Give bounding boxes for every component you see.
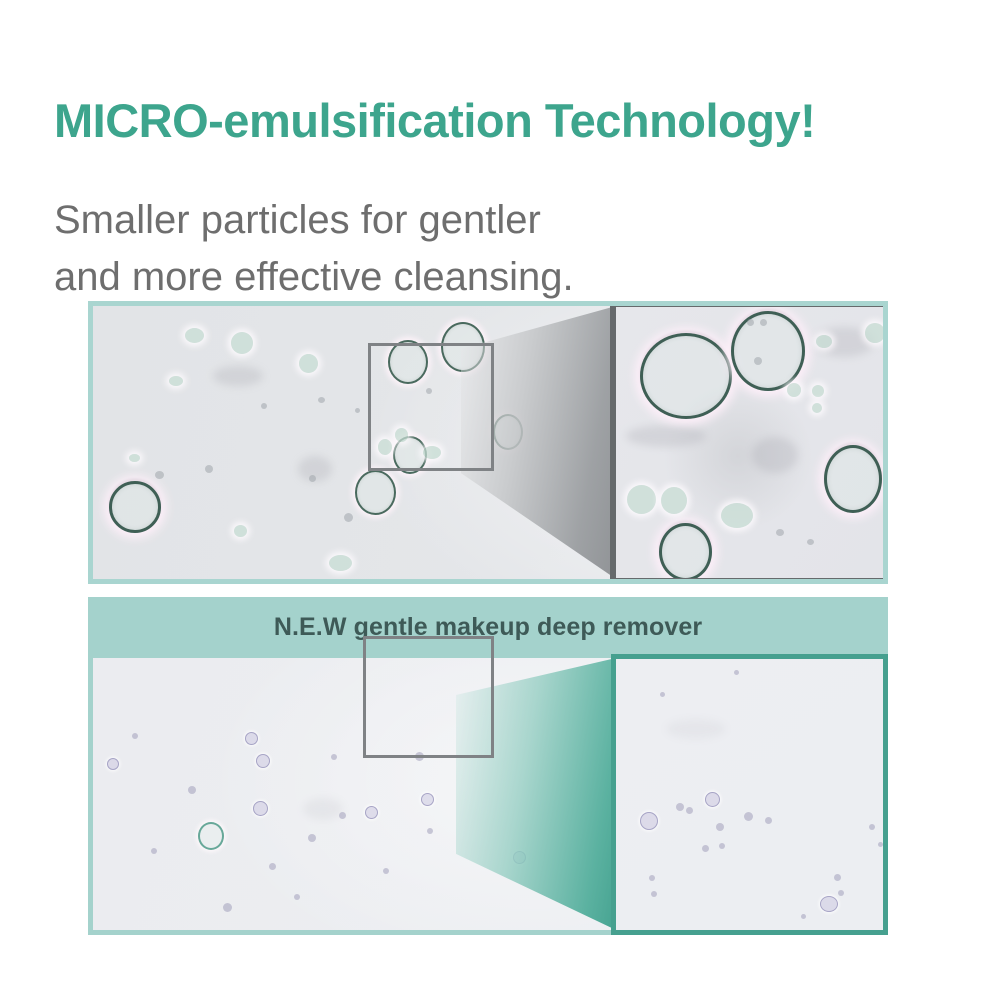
page-title: MICRO-emulsification Technology! xyxy=(54,93,815,148)
oil-droplet xyxy=(661,487,687,514)
oil-droplet xyxy=(188,786,196,794)
magnified-inset-top xyxy=(610,301,888,584)
oil-droplet xyxy=(299,354,318,373)
oil-droplet xyxy=(294,894,300,900)
oil-droplet xyxy=(834,874,841,881)
oil-droplet xyxy=(716,823,724,831)
oil-droplet xyxy=(132,733,138,739)
oil-droplet xyxy=(331,754,337,760)
oil-droplet xyxy=(169,376,183,386)
oil-droplet xyxy=(747,319,754,326)
oil-droplet xyxy=(344,513,353,522)
oil-droplet xyxy=(151,848,157,854)
oil-droplet xyxy=(129,454,140,462)
oil-droplet xyxy=(155,471,164,479)
oil-droplet xyxy=(760,319,767,326)
oil-droplet xyxy=(269,863,276,870)
oil-droplet xyxy=(198,822,224,850)
micrograph-smudge xyxy=(303,798,343,820)
oil-droplet xyxy=(702,845,709,852)
oil-droplet xyxy=(649,875,655,881)
oil-droplet xyxy=(383,868,389,874)
oil-droplet xyxy=(865,323,885,343)
oil-droplet xyxy=(640,812,658,830)
oil-droplet xyxy=(776,529,784,536)
oil-droplet xyxy=(261,403,267,409)
oil-droplet xyxy=(754,357,762,365)
new-formula-micrograph-panel: N.E.W gentle makeup deep remover xyxy=(88,597,888,935)
oil-droplet xyxy=(686,807,693,814)
oil-droplet xyxy=(318,397,325,403)
oil-droplet xyxy=(869,824,875,830)
oil-droplet xyxy=(838,890,844,896)
magnification-region-top[interactable] xyxy=(368,343,494,471)
oil-droplet xyxy=(245,732,258,745)
oil-droplet xyxy=(308,834,316,842)
oil-droplet xyxy=(807,539,814,545)
oil-droplet xyxy=(744,812,753,821)
oil-droplet xyxy=(659,523,712,581)
oil-droplet xyxy=(816,335,832,348)
micrograph-smudge xyxy=(666,719,726,739)
oil-droplet xyxy=(824,445,882,513)
micrograph-smudge xyxy=(752,437,798,473)
oil-droplet xyxy=(256,754,270,768)
oil-droplet xyxy=(640,333,732,419)
oil-droplet xyxy=(731,311,805,391)
oil-droplet xyxy=(676,803,684,811)
oil-droplet xyxy=(878,842,883,847)
oil-droplet xyxy=(719,843,725,849)
oil-droplet xyxy=(253,801,268,816)
oil-droplet xyxy=(493,414,523,450)
oil-droplet xyxy=(339,812,346,819)
oil-droplet xyxy=(801,914,806,919)
micrograph-smudge xyxy=(213,366,263,386)
oil-droplet xyxy=(223,903,232,912)
oil-droplet xyxy=(421,793,434,806)
oil-droplet xyxy=(205,465,213,473)
oil-droplet xyxy=(309,475,316,482)
oil-droplet xyxy=(812,403,822,413)
oil-droplet xyxy=(234,525,247,537)
oil-droplet xyxy=(109,481,161,533)
oil-droplet xyxy=(185,328,204,343)
oil-droplet xyxy=(427,828,433,834)
conventional-micrograph-panel xyxy=(88,301,888,584)
magnified-inset-bottom xyxy=(611,654,888,935)
oil-droplet xyxy=(734,670,739,675)
micrograph-smudge xyxy=(626,425,706,447)
oil-droplet xyxy=(705,792,720,807)
magnification-region-bottom[interactable] xyxy=(363,636,494,758)
oil-droplet xyxy=(651,891,657,897)
oil-droplet xyxy=(627,485,656,514)
oil-droplet xyxy=(107,758,119,770)
oil-droplet xyxy=(721,503,753,528)
oil-droplet xyxy=(812,385,824,397)
oil-droplet xyxy=(365,806,378,819)
oil-droplet xyxy=(820,896,838,912)
page-subtitle: Smaller particles for gentler and more e… xyxy=(54,192,574,306)
oil-droplet xyxy=(231,332,253,354)
oil-droplet xyxy=(513,851,526,864)
oil-droplet xyxy=(787,383,801,397)
oil-droplet xyxy=(660,692,665,697)
oil-droplet xyxy=(355,408,360,413)
oil-droplet xyxy=(355,470,396,515)
oil-droplet xyxy=(765,817,772,824)
oil-droplet xyxy=(329,555,352,571)
